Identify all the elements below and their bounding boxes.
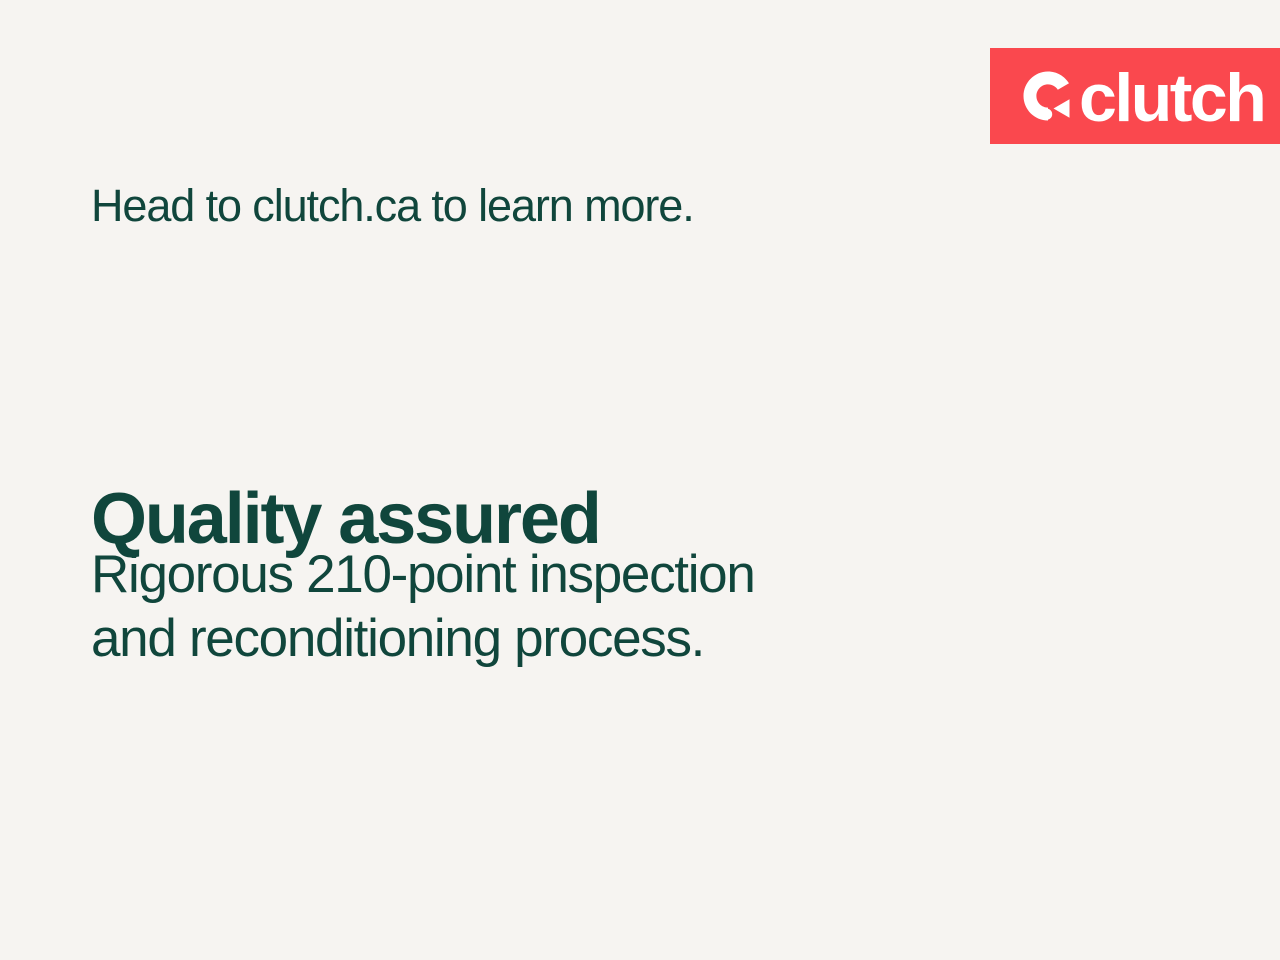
subcopy-line: and reconditioning process. <box>91 607 755 671</box>
subcopy-line: Rigorous 210-point inspection <box>91 543 755 607</box>
clutch-logo-text: clutch <box>1079 71 1264 127</box>
clutch-wordmark: clutch <box>1020 65 1264 127</box>
subcopy: Rigorous 210-point inspection and recond… <box>91 543 755 670</box>
clutch-c-mark-icon <box>1020 68 1076 124</box>
clutch-logo-block[interactable]: clutch <box>990 48 1280 144</box>
kicker-text: Head to clutch.ca to learn more. <box>91 180 694 232</box>
promo-slide: clutch Head to clutch.ca to learn more. … <box>0 0 1280 960</box>
